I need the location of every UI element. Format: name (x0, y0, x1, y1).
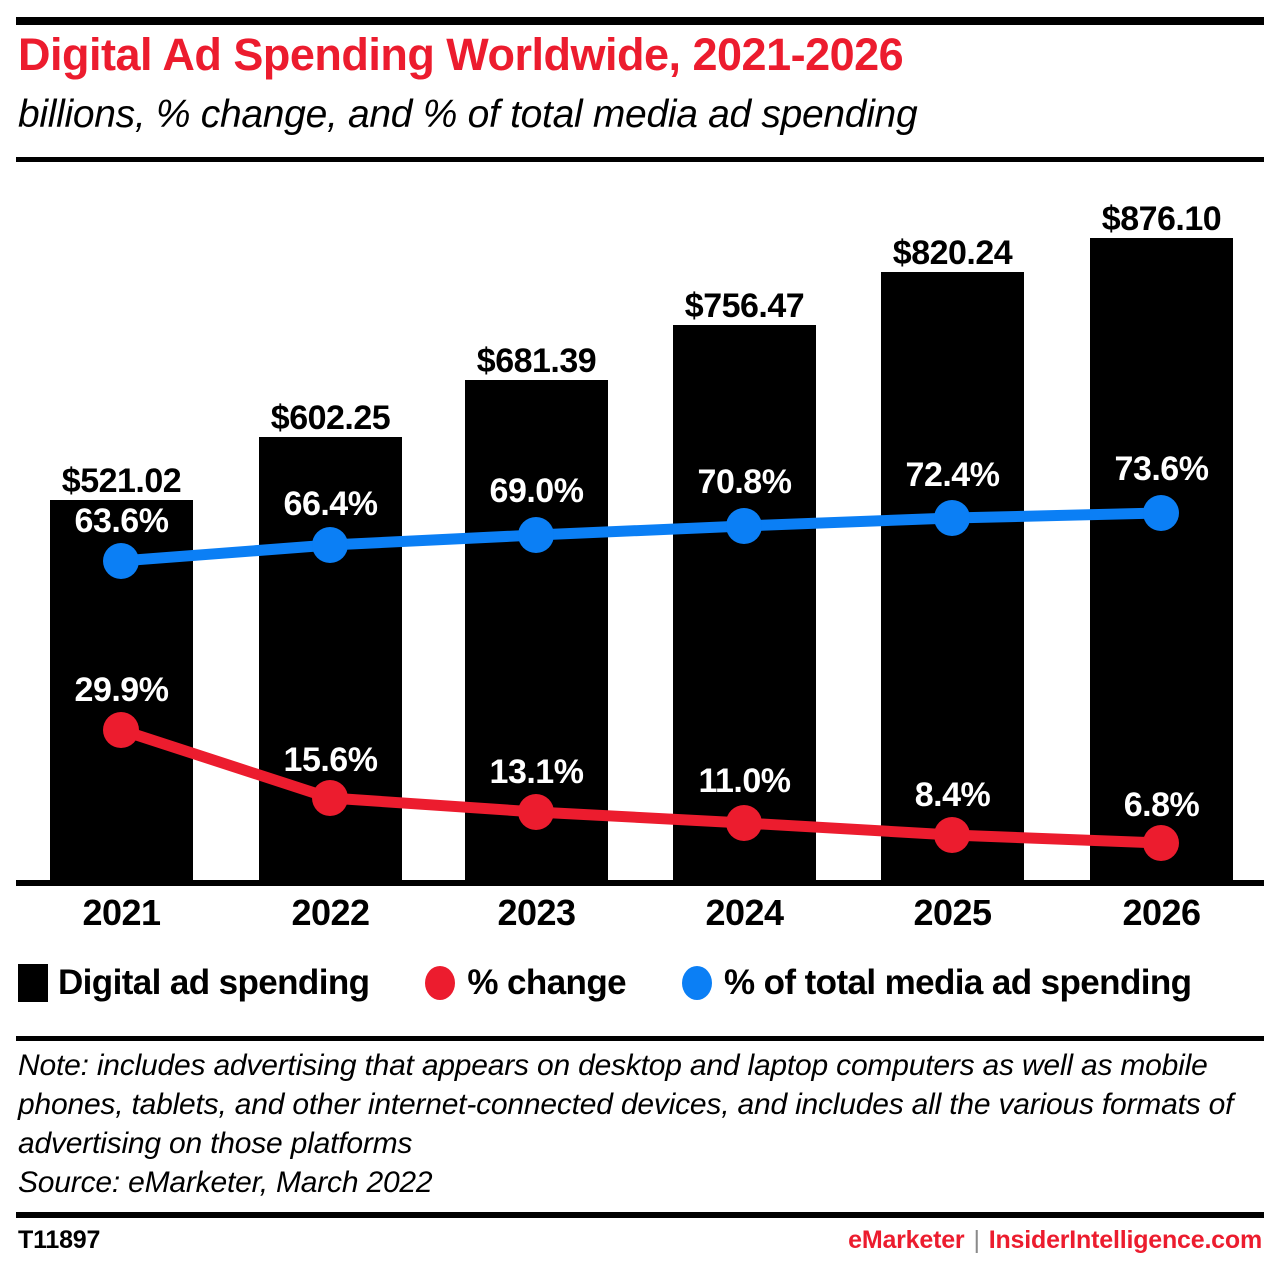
footer-top-rule (16, 1212, 1264, 1218)
footer-brand-insider-intelligence[interactable]: InsiderIntelligence.com (989, 1226, 1262, 1255)
x-tick-2026: 2026 (1081, 892, 1242, 934)
change-point-2024 (726, 805, 762, 841)
chart-plot-area: $521.02 $602.25 $681.39 $756.47 $820.24 … (0, 0, 1280, 930)
share-point-2024 (726, 508, 762, 544)
legend-item-percent-change: % change (425, 963, 626, 1003)
share-point-2021 (103, 543, 139, 579)
chart-note: Note: includes advertising that appears … (18, 1046, 1262, 1202)
change-point-2023 (518, 794, 554, 830)
change-point-2025 (934, 817, 970, 853)
legend-item-digital-ad-spending: Digital ad spending (18, 963, 369, 1003)
x-axis-line (16, 880, 1264, 886)
x-tick-2023: 2023 (456, 892, 617, 934)
legend-item-percent-of-total: % of total media ad spending (682, 963, 1191, 1003)
change-point-2026 (1143, 825, 1179, 861)
chart-page: Digital Ad Spending Worldwide, 2021-2026… (0, 0, 1280, 1270)
change-point-2022 (312, 780, 348, 816)
legend-circle-blue-icon (682, 966, 712, 1000)
share-point-2022 (312, 527, 348, 563)
legend-label-percent-of-total: % of total media ad spending (724, 963, 1191, 1003)
legend-label-digital-ad-spending: Digital ad spending (58, 963, 369, 1003)
legend-label-percent-change: % change (467, 963, 626, 1003)
share-point-2023 (518, 517, 554, 553)
note-text: Note: includes advertising that appears … (18, 1046, 1262, 1163)
footer-brand: eMarketer | InsiderIntelligence.com (848, 1226, 1262, 1255)
legend-square-icon (18, 964, 48, 1002)
x-tick-2021: 2021 (41, 892, 202, 934)
footer-chart-id: T11897 (18, 1226, 100, 1255)
note-top-rule (16, 1036, 1264, 1041)
footer-brand-separator: | (973, 1226, 979, 1255)
change-line (121, 730, 1161, 843)
legend-circle-red-icon (425, 966, 455, 1000)
line-series-overlay (0, 0, 1280, 930)
change-point-2021 (103, 712, 139, 748)
x-tick-2024: 2024 (664, 892, 825, 934)
share-point-2025 (934, 500, 970, 536)
footer-brand-emarketer: eMarketer (848, 1226, 964, 1255)
x-tick-2022: 2022 (250, 892, 411, 934)
page-footer: T11897 eMarketer | InsiderIntelligence.c… (18, 1226, 1262, 1255)
chart-legend: Digital ad spending % change % of total … (18, 958, 1191, 1008)
note-source: Source: eMarketer, March 2022 (18, 1163, 1262, 1202)
x-tick-2025: 2025 (872, 892, 1033, 934)
share-line (121, 513, 1161, 561)
share-point-2026 (1143, 495, 1179, 531)
